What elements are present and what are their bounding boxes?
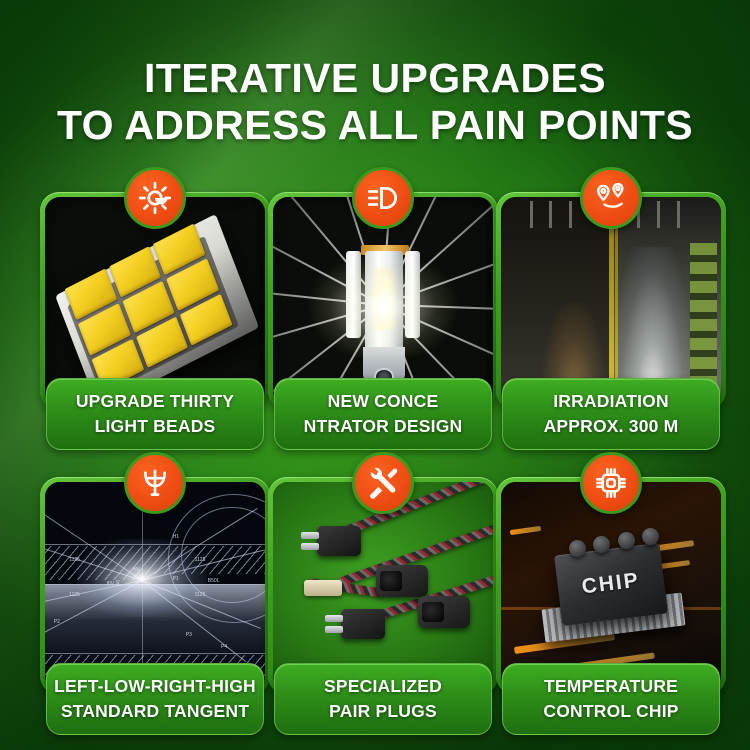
feature-card[interactable]: NEW CONCE NTRATOR DESIGN bbox=[268, 192, 498, 454]
feature-card[interactable]: CHIP TEMPERATURE CONTROL CHIP bbox=[496, 477, 726, 739]
low-beam-headlight-icon bbox=[352, 167, 414, 229]
brightness-icon bbox=[124, 167, 186, 229]
diagram-label-1125c: 1125 bbox=[69, 592, 80, 598]
diagram-label-1125d: 1125 bbox=[195, 592, 206, 598]
diagram-label-1125b: 1125 bbox=[195, 557, 206, 563]
card-label-line2: CONTROL CHIP bbox=[543, 699, 678, 724]
card-label-line1: NEW CONCE bbox=[328, 389, 439, 414]
diagram-label-b50l: B50L bbox=[208, 578, 220, 584]
feature-card[interactable]: HV H1 IIIV 区 1125 1125 1125 1125 B50L P1… bbox=[40, 477, 270, 739]
beam-cutoff-icon bbox=[124, 452, 186, 514]
card-label: IRRADIATION APPROX. 300 M bbox=[502, 378, 720, 450]
feature-grid: UPGRADE THIRTY LIGHT BEADS bbox=[0, 170, 750, 730]
card-label: SPECIALIZED PAIR PLUGS bbox=[274, 663, 492, 735]
card-label-line1: TEMPERATURE bbox=[544, 674, 678, 699]
diagram-label-hv: HV bbox=[133, 567, 140, 573]
route-pins-icon bbox=[580, 167, 642, 229]
page-title: ITERATIVE UPGRADES TO ADDRESS ALL PAIN P… bbox=[0, 55, 750, 149]
diagram-label-p1: P1 bbox=[173, 576, 179, 582]
diagram-label-zone3: IIIV 区 bbox=[107, 580, 121, 587]
diagram-label-p4: P4 bbox=[221, 644, 227, 650]
chip-text: CHIP bbox=[581, 568, 642, 599]
microchip-icon bbox=[580, 452, 642, 514]
card-label-line2: APPROX. 300 M bbox=[544, 414, 679, 439]
diagram-label-p2: P2 bbox=[54, 619, 60, 625]
tools-icon bbox=[352, 452, 414, 514]
diagram-label-p3: P3 bbox=[186, 632, 192, 638]
feature-card[interactable]: UPGRADE THIRTY LIGHT BEADS bbox=[40, 192, 270, 454]
card-label-line1: IRRADIATION bbox=[553, 389, 669, 414]
card-label-line2: STANDARD TANGENT bbox=[61, 699, 249, 724]
card-label: NEW CONCE NTRATOR DESIGN bbox=[274, 378, 492, 450]
feature-card[interactable]: SPECIALIZED PAIR PLUGS bbox=[268, 477, 498, 739]
card-label-line1: LEFT-LOW-RIGHT-HIGH bbox=[54, 674, 256, 699]
page-title-line2: TO ADDRESS ALL PAIN POINTS bbox=[0, 102, 750, 149]
card-label-line2: NTRATOR DESIGN bbox=[304, 414, 463, 439]
card-label: UPGRADE THIRTY LIGHT BEADS bbox=[46, 378, 264, 450]
card-label-line2: LIGHT BEADS bbox=[95, 414, 216, 439]
card-label: LEFT-LOW-RIGHT-HIGH STANDARD TANGENT bbox=[46, 663, 264, 735]
feature-card[interactable]: IRRADIATION APPROX. 300 M bbox=[496, 192, 726, 454]
card-label-line2: PAIR PLUGS bbox=[329, 699, 437, 724]
card-label-line1: SPECIALIZED bbox=[324, 674, 442, 699]
page-title-line1: ITERATIVE UPGRADES bbox=[0, 55, 750, 102]
card-label-line1: UPGRADE THIRTY bbox=[76, 389, 234, 414]
diagram-label-1125a: 1125 bbox=[69, 557, 80, 563]
diagram-label-h1: H1 bbox=[173, 534, 179, 540]
card-label: TEMPERATURE CONTROL CHIP bbox=[502, 663, 720, 735]
